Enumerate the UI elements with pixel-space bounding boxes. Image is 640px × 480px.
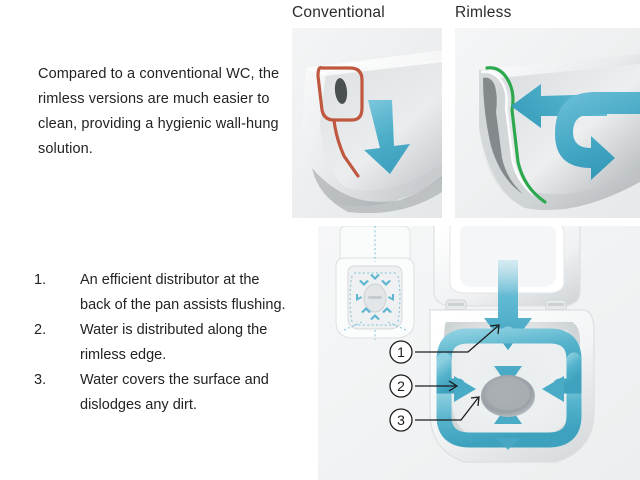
callout-leader-3	[415, 398, 478, 420]
step-text: Water is distributed along the rimless e…	[80, 318, 294, 368]
image-rimless-rim-section	[455, 28, 640, 218]
step-text: Water covers the surface and dislodges a…	[80, 368, 294, 418]
step-text: An efficient distributor at the back of …	[80, 268, 294, 318]
step-number: 3.	[34, 368, 80, 393]
callout-number-3: 3	[397, 412, 405, 428]
panel-label-conventional: Conventional	[292, 4, 385, 22]
pointer-arrow-icon	[449, 325, 499, 406]
slide-canvas: Compared to a conventional WC, the rimle…	[0, 0, 640, 480]
panel-label-rimless: Rimless	[455, 4, 512, 22]
step-number: 2.	[34, 318, 80, 343]
image-rimless-flush-topdown: 1 2 3	[318, 226, 640, 480]
list-item: 3. Water covers the surface and dislodge…	[34, 368, 294, 418]
callout-number-1: 1	[397, 344, 405, 360]
callout-number-2: 2	[397, 378, 405, 394]
intro-paragraph: Compared to a conventional WC, the rimle…	[38, 62, 288, 162]
conventional-illustration	[292, 28, 442, 218]
list-item: 1. An efficient distributor at the back …	[34, 268, 294, 318]
list-item: 2. Water is distributed along the rimles…	[34, 318, 294, 368]
image-conventional-rim-section	[292, 28, 442, 218]
rimless-illustration	[455, 28, 640, 218]
callout-overlay: 1 2 3	[318, 226, 640, 480]
callout-leader-1	[415, 326, 498, 352]
numbered-step-list: 1. An efficient distributor at the back …	[34, 268, 294, 418]
step-number: 1.	[34, 268, 80, 293]
